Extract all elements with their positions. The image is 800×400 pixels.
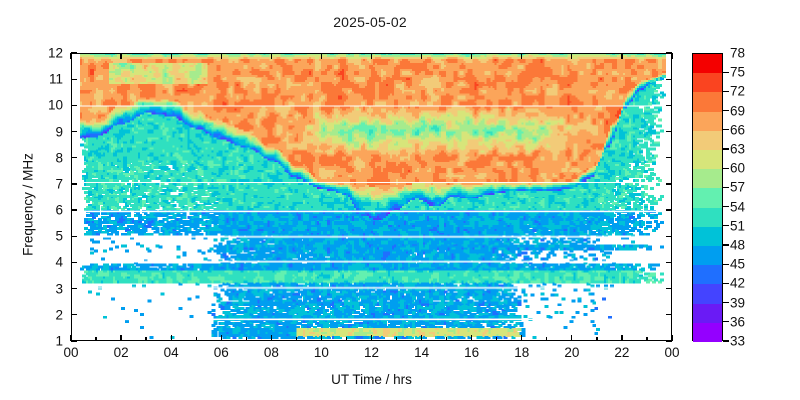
colorbar-tick-label: 66 — [730, 122, 756, 137]
x-tick-mark — [271, 335, 272, 341]
colorbar-band — [693, 188, 722, 208]
y-tick-mark-right — [666, 131, 672, 132]
y-tick-mark-right — [666, 262, 672, 263]
colorbar-tick-label: 63 — [730, 142, 756, 157]
colorbar-band — [693, 227, 722, 247]
x-tick-label: 00 — [51, 345, 91, 360]
x-minor-tick — [396, 337, 397, 341]
x-tick-label: 12 — [352, 345, 392, 360]
x-minor-tick — [95, 337, 96, 341]
colorbar-tick-mark — [723, 91, 729, 92]
x-minor-tick — [496, 337, 497, 341]
y-tick-mark — [71, 340, 77, 341]
y-tick-mark-right — [666, 183, 672, 184]
colorbar-band — [693, 131, 722, 151]
y-tick-mark-right — [666, 314, 672, 315]
x-tick-label: 22 — [602, 345, 642, 360]
x-minor-tick — [296, 337, 297, 341]
x-tick-mark — [421, 335, 422, 341]
colorbar-tick-mark — [723, 340, 729, 341]
y-tick-label: 12 — [15, 46, 63, 61]
colorbar-band — [693, 304, 722, 324]
x-tick-label: 08 — [251, 345, 291, 360]
colorbar-tick-label: 45 — [730, 257, 756, 272]
colorbar-tick-label: 72 — [730, 84, 756, 99]
x-tick-mark-top — [421, 53, 422, 59]
colorbar-band — [693, 265, 722, 285]
x-tick-mark-top — [120, 53, 121, 59]
y-tick-mark-right — [666, 236, 672, 237]
colorbar-tick-mark — [723, 283, 729, 284]
y-tick-mark — [71, 157, 77, 158]
x-tick-mark — [221, 335, 222, 341]
spectrogram-figure: 2025-05-02 123456789101112 0002040608101… — [0, 0, 800, 400]
colorbar-tick-label: 54 — [730, 199, 756, 214]
y-tick-mark-right — [666, 209, 672, 210]
x-axis-title: UT Time / hrs — [71, 372, 672, 387]
x-tick-mark — [70, 335, 71, 341]
x-tick-label: 14 — [402, 345, 442, 360]
colorbar-tick-mark — [723, 110, 729, 111]
colorbar-tick-mark — [723, 244, 729, 245]
colorbar-tick-label: 39 — [730, 295, 756, 310]
x-tick-label: 20 — [552, 345, 592, 360]
colorbar-band — [693, 92, 722, 112]
colorbar-tick-label: 60 — [730, 161, 756, 176]
x-tick-mark-top — [321, 53, 322, 59]
colorbar-tick-label: 36 — [730, 314, 756, 329]
colorbar-tick-mark — [723, 129, 729, 130]
colorbar-tick-label: 48 — [730, 238, 756, 253]
colorbar-band — [693, 323, 722, 343]
x-minor-tick — [196, 337, 197, 341]
colorbar-tick-mark — [723, 206, 729, 207]
colorbar-tick-mark — [723, 302, 729, 303]
x-tick-mark — [521, 335, 522, 341]
colorbar-band — [693, 208, 722, 228]
x-minor-tick — [346, 337, 347, 341]
colorbar-tick-label: 33 — [730, 334, 756, 349]
colorbar-tick-label: 69 — [730, 103, 756, 118]
x-tick-mark — [171, 335, 172, 341]
colorbar-band — [693, 150, 722, 170]
colorbar-band — [693, 73, 722, 93]
colorbar-tick-mark — [723, 148, 729, 149]
colorbar-tick-mark — [723, 225, 729, 226]
colorbar[interactable] — [692, 53, 723, 341]
x-tick-mark-top — [171, 53, 172, 59]
colorbar-tick-label: 51 — [730, 218, 756, 233]
colorbar-band — [693, 284, 722, 304]
x-tick-mark-top — [371, 53, 372, 59]
x-tick-mark-top — [621, 53, 622, 59]
x-tick-label: 18 — [502, 345, 542, 360]
colorbar-tick-label: 42 — [730, 276, 756, 291]
y-axis-title: Frequency / MHz — [21, 105, 36, 305]
y-tick-mark — [71, 314, 77, 315]
y-tick-mark — [71, 262, 77, 263]
colorbar-tick-mark — [723, 321, 729, 322]
colorbar-tick-mark — [723, 264, 729, 265]
x-tick-mark-top — [471, 53, 472, 59]
x-tick-mark — [571, 335, 572, 341]
x-tick-mark — [671, 335, 672, 341]
x-tick-mark — [471, 335, 472, 341]
y-tick-label: 2 — [15, 307, 63, 322]
colorbar-tick-mark — [723, 168, 729, 169]
colorbar-tick-mark — [723, 72, 729, 73]
colorbar-band — [693, 169, 722, 189]
x-tick-mark-top — [271, 53, 272, 59]
x-minor-tick — [246, 337, 247, 341]
colorbar-band — [693, 112, 722, 132]
x-minor-tick — [546, 337, 547, 341]
x-minor-tick — [446, 337, 447, 341]
x-tick-mark-top — [221, 53, 222, 59]
y-tick-mark — [71, 52, 77, 53]
chart-title: 2025-05-02 — [0, 14, 740, 30]
x-tick-mark — [120, 335, 121, 341]
x-tick-mark-top — [671, 53, 672, 59]
y-tick-label: 11 — [15, 72, 63, 87]
x-tick-label: 16 — [452, 345, 492, 360]
x-tick-mark — [621, 335, 622, 341]
x-tick-mark — [371, 335, 372, 341]
x-tick-label: 06 — [201, 345, 241, 360]
y-tick-mark — [71, 131, 77, 132]
x-tick-mark-top — [70, 53, 71, 59]
x-tick-mark-top — [521, 53, 522, 59]
x-minor-tick — [646, 337, 647, 341]
colorbar-tick-label: 78 — [730, 46, 756, 61]
x-minor-tick — [145, 337, 146, 341]
x-tick-mark — [321, 335, 322, 341]
x-minor-tick — [596, 337, 597, 341]
y-tick-mark-right — [666, 157, 672, 158]
spectrogram-heatmap — [72, 54, 671, 340]
x-tick-label: 04 — [151, 345, 191, 360]
plot-area[interactable] — [71, 53, 672, 341]
y-tick-mark — [71, 288, 77, 289]
y-tick-mark-right — [666, 79, 672, 80]
x-tick-label: 00 — [652, 345, 692, 360]
colorbar-band — [693, 54, 722, 74]
y-tick-mark — [71, 183, 77, 184]
y-tick-mark-right — [666, 288, 672, 289]
colorbar-tick-label: 75 — [730, 65, 756, 80]
y-tick-mark — [71, 105, 77, 106]
colorbar-tick-mark — [723, 187, 729, 188]
y-tick-mark — [71, 209, 77, 210]
colorbar-band — [693, 246, 722, 266]
y-tick-mark-right — [666, 105, 672, 106]
x-tick-label: 10 — [301, 345, 341, 360]
x-tick-mark-top — [571, 53, 572, 59]
colorbar-tick-label: 57 — [730, 180, 756, 195]
x-tick-label: 02 — [101, 345, 141, 360]
y-tick-mark — [71, 236, 77, 237]
y-tick-mark — [71, 79, 77, 80]
